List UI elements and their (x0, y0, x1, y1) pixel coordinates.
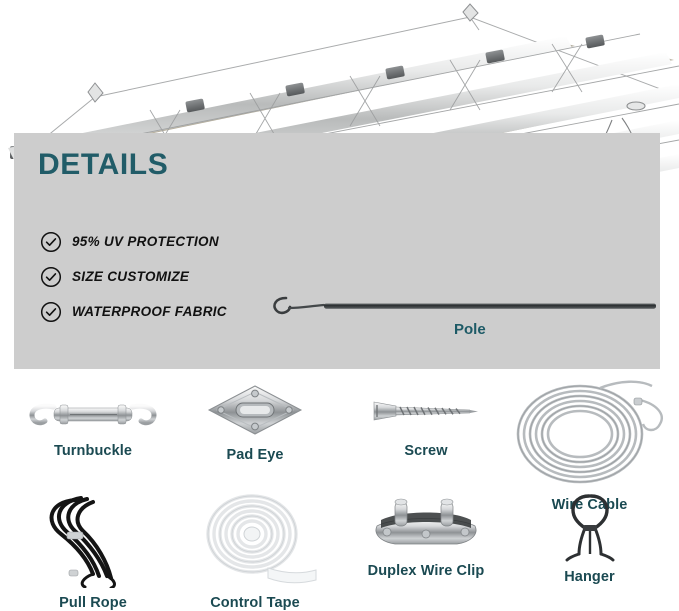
feature-label: SIZE CUSTOMIZE (72, 269, 189, 284)
part-screw: Screw (340, 384, 512, 459)
part-pull-rope: Pull Rope (8, 488, 178, 611)
part-hanger: Hanger (500, 488, 679, 585)
feature-item: WATERPROOF FABRIC (40, 296, 227, 327)
pad-eye-icon (180, 380, 330, 445)
feature-list: 95% UV PROTECTION SIZE CUSTOMIZE WATERPR… (40, 226, 227, 331)
parts-grid: Turnbuckle Pad Eye (0, 380, 679, 611)
pull-rope-icon (8, 488, 178, 593)
control-tape-icon (180, 488, 330, 593)
part-label: Screw (340, 443, 512, 459)
part-label: Turnbuckle (8, 443, 178, 459)
screw-icon (340, 384, 512, 441)
part-control-tape: Control Tape (180, 488, 330, 611)
pole-label: Pole (454, 321, 486, 338)
part-label: Hanger (500, 569, 679, 585)
duplex-wire-clip-icon (340, 490, 512, 561)
feature-item: 95% UV PROTECTION (40, 226, 227, 257)
page-title: DETAILS (38, 148, 168, 182)
part-label: Control Tape (180, 595, 330, 611)
part-turnbuckle: Turnbuckle (8, 384, 178, 459)
part-label: Pull Rope (8, 595, 178, 611)
check-circle-icon (40, 266, 62, 288)
feature-label: 95% UV PROTECTION (72, 234, 219, 249)
details-panel: DETAILS 95% UV PROTECTION SIZE CUSTOMIZE (14, 133, 660, 369)
part-pad-eye: Pad Eye (180, 380, 330, 463)
turnbuckle-icon (8, 384, 178, 441)
part-label: Pad Eye (180, 447, 330, 463)
feature-label: WATERPROOF FABRIC (72, 304, 227, 319)
wire-cable-icon (500, 378, 679, 495)
hanger-icon (500, 488, 679, 567)
check-circle-icon (40, 301, 62, 323)
part-duplex-wire-clip: Duplex Wire Clip (340, 490, 512, 579)
part-label: Duplex Wire Clip (340, 563, 512, 579)
check-circle-icon (40, 231, 62, 253)
feature-item: SIZE CUSTOMIZE (40, 261, 227, 292)
